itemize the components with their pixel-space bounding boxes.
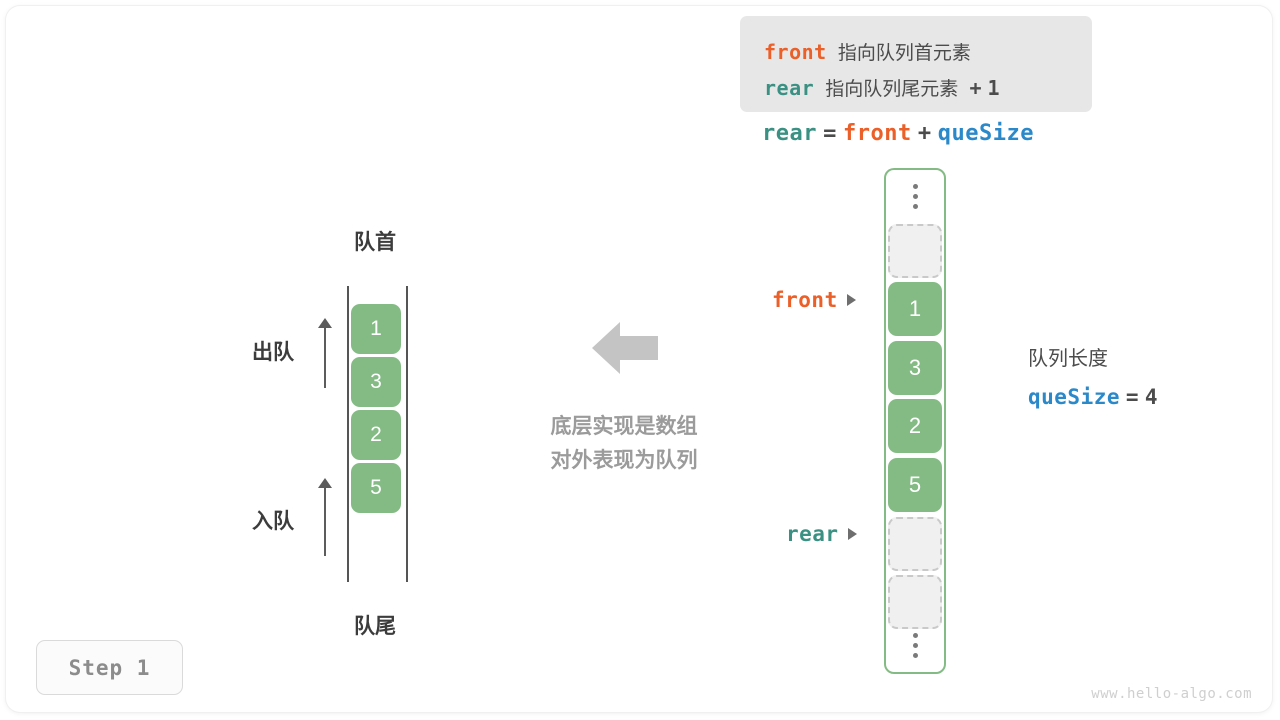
pointer-rear-label: rear [786,522,839,546]
pointer-front-label: front [772,288,838,312]
formula-front: front [843,121,912,146]
pointer-front: front [772,288,856,312]
queue-head-label: 队首 [305,226,445,256]
legend-front-desc: 指向队列首元素 [838,43,971,64]
center-caption: 底层实现是数组 对外表现为队列 [528,410,720,478]
formula-plus: + [918,121,932,146]
queue-tail-label: 队尾 [305,610,445,640]
ellipsis-bottom-icon [912,633,918,658]
array-cell-1: 3 [888,341,942,395]
queue-cell-0: 1 [351,304,401,354]
quesize-note-expr: queSize = 4 [1028,385,1158,410]
queue-cell-3: 5 [351,463,401,513]
quesize-note-title: 队列长度 [1028,342,1158,371]
array-container: 1 3 2 5 [884,168,946,674]
legend-rear-line: rear 指向队列尾元素 + 1 [764,78,1000,100]
quesize-equals: = [1126,385,1139,409]
formula-rear: rear [762,121,817,146]
queue-rail-left [347,286,349,582]
legend-front-line: front 指向队列首元素 [764,42,971,64]
array-cell-0: 1 [888,282,942,336]
formula-rear-equals: rear = front + queSize [762,120,1034,146]
triangle-right-icon [847,294,856,306]
quesize-note: 队列长度 queSize = 4 [1028,342,1158,410]
quesize-value: 4 [1145,385,1158,409]
center-caption-line1: 底层实现是数组 [528,410,720,444]
triangle-right-icon [848,528,857,540]
enqueue-label: 入队 [252,505,294,535]
queue-cell-2: 2 [351,410,401,460]
array-cell-empty-0 [888,224,942,278]
legend-box: front 指向队列首元素 rear 指向队列尾元素 + 1 [740,16,1092,112]
dequeue-label: 出队 [252,336,294,366]
queue-rail-right [406,286,408,582]
formula-quesize: queSize [938,121,1034,146]
array-cell-2: 2 [888,399,942,453]
formula-equals: = [823,121,837,146]
array-cell-empty-2 [888,575,942,629]
step-badge: Step 1 [36,640,183,695]
diagram-canvas: front 指向队列首元素 rear 指向队列尾元素 + 1 rear = fr… [0,0,1280,720]
array-cell-3: 5 [888,458,942,512]
array-cell-empty-1 [888,517,942,571]
legend-rear-desc: 指向队列尾元素 [825,79,958,100]
quesize-var: queSize [1028,385,1120,409]
center-caption-line2: 对外表现为队列 [528,444,720,478]
dequeue-arrow-icon [318,318,332,388]
legend-rear-plus: + [969,76,982,100]
legend-front-token: front [764,40,827,64]
queue-cell-1: 3 [351,357,401,407]
left-arrow-icon [592,320,658,376]
legend-rear-token: rear [764,76,814,100]
watermark: www.hello-algo.com [1091,686,1252,702]
ellipsis-top-icon [912,184,918,209]
pointer-rear: rear [786,522,857,546]
enqueue-arrow-icon [318,478,332,556]
legend-rear-one: 1 [988,76,1001,100]
